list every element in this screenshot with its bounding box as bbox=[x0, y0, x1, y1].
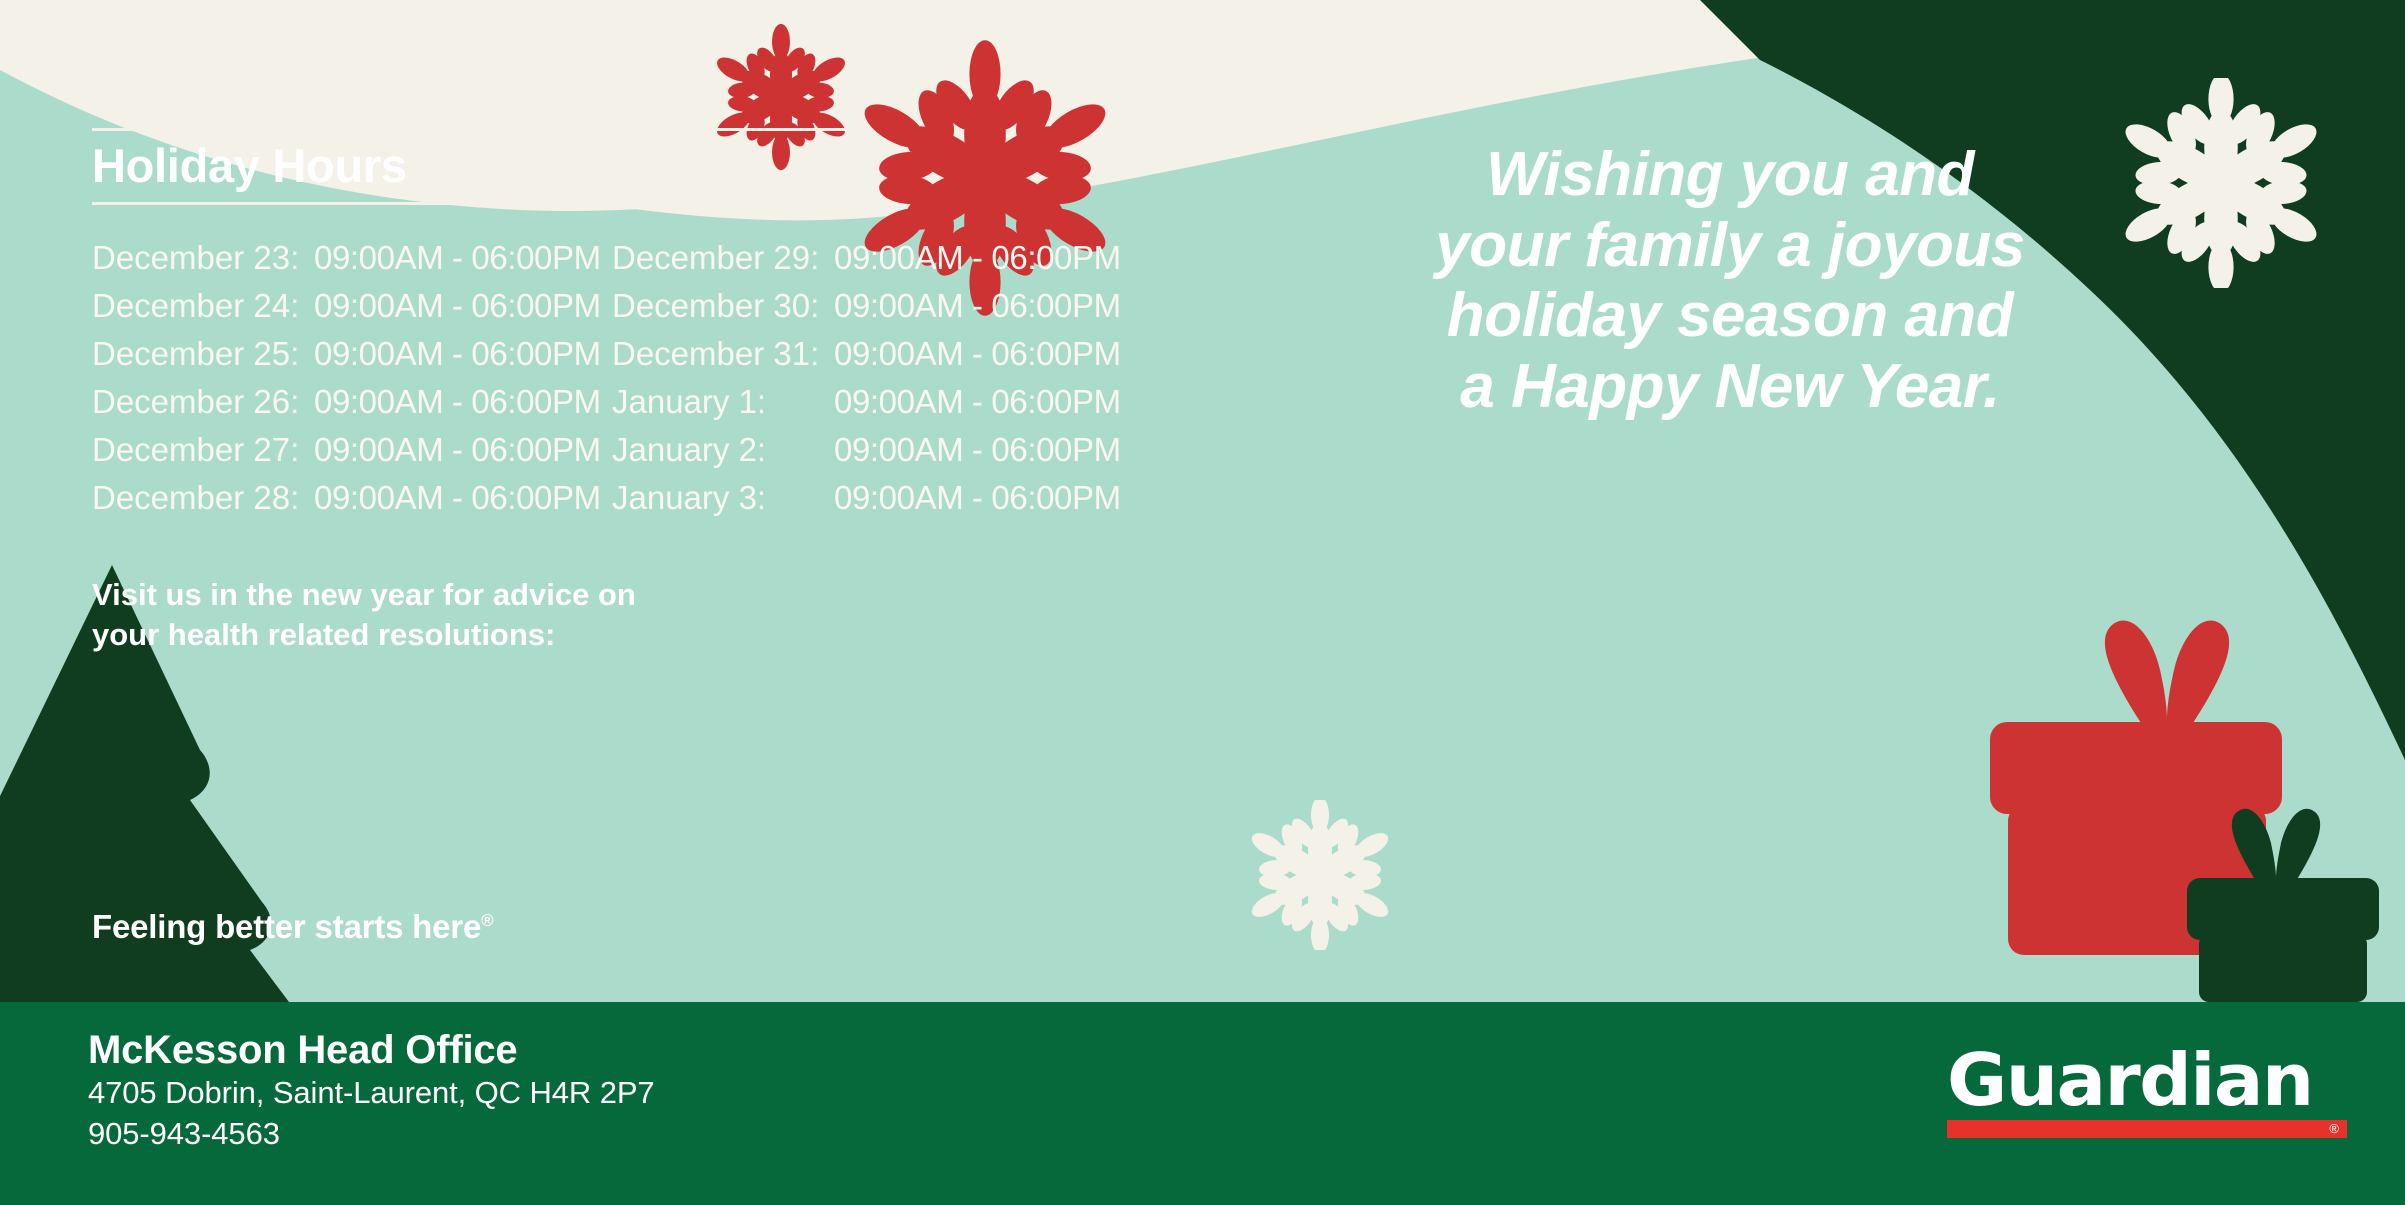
footer-address-block: McKesson Head Office 4705 Dobrin, Saint-… bbox=[88, 1027, 655, 1155]
hours-row: December 26: 09:00AM - 06:00PM bbox=[92, 383, 612, 431]
visit-message: Visit us in the new year for advice on y… bbox=[92, 575, 792, 654]
hours-day-label: December 24: bbox=[92, 287, 314, 325]
gift-box-red-lid bbox=[1990, 722, 2282, 814]
hours-row: December 24: 09:00AM - 06:00PM bbox=[92, 287, 612, 335]
hours-time-value: 09:00AM - 06:00PM bbox=[834, 335, 1121, 373]
office-phone: 905-943-4563 bbox=[88, 1114, 655, 1155]
hours-day-label: December 30: bbox=[612, 287, 834, 325]
guardian-registered-icon: ® bbox=[2329, 1121, 2339, 1137]
greeting-line-3: holiday season and bbox=[1290, 281, 2170, 352]
hours-row: January 3: 09:00AM - 06:00PM bbox=[612, 479, 1132, 527]
visit-message-line-1: Visit us in the new year for advice on bbox=[92, 575, 792, 615]
tagline-text: Feeling better starts here bbox=[92, 908, 481, 945]
hours-day-label: January 3: bbox=[612, 479, 834, 517]
hours-row: December 31: 09:00AM - 06:00PM bbox=[612, 335, 1132, 383]
hours-table: December 23: 09:00AM - 06:00PM December … bbox=[92, 239, 1122, 527]
hours-row: January 2: 09:00AM - 06:00PM bbox=[612, 431, 1132, 479]
visit-message-line-2: your health related resolutions: bbox=[92, 615, 792, 655]
hours-day-label: December 29: bbox=[612, 239, 834, 277]
gift-box-green-body bbox=[2199, 934, 2367, 1002]
hours-time-value: 09:00AM - 06:00PM bbox=[834, 287, 1121, 325]
hours-day-label: January 1: bbox=[612, 383, 834, 421]
hours-time-value: 09:00AM - 06:00PM bbox=[314, 383, 601, 421]
hours-time-value: 09:00AM - 06:00PM bbox=[314, 335, 601, 373]
snowflake-cream-center-icon bbox=[1245, 800, 1395, 950]
hours-time-value: 09:00AM - 06:00PM bbox=[314, 431, 601, 469]
tagline: Feeling better starts here® bbox=[92, 908, 493, 946]
hours-time-value: 09:00AM - 06:00PM bbox=[314, 479, 601, 517]
gift-boxes-group bbox=[1960, 600, 2405, 1002]
hours-row: December 25: 09:00AM - 06:00PM bbox=[92, 335, 612, 383]
greeting-message: Wishing you and your family a joyous hol… bbox=[1290, 140, 2170, 423]
hours-time-value: 09:00AM - 06:00PM bbox=[834, 431, 1121, 469]
hours-time-value: 09:00AM - 06:00PM bbox=[834, 479, 1121, 517]
hours-day-label: December 23: bbox=[92, 239, 314, 277]
hours-day-label: January 2: bbox=[612, 431, 834, 469]
office-name: McKesson Head Office bbox=[88, 1027, 655, 1073]
hours-day-label: December 25: bbox=[92, 335, 314, 373]
tagline-registered-icon: ® bbox=[481, 911, 493, 930]
hours-row: December 28: 09:00AM - 06:00PM bbox=[92, 479, 612, 527]
hours-time-value: 09:00AM - 06:00PM bbox=[314, 239, 601, 277]
hours-row: January 1: 09:00AM - 06:00PM bbox=[612, 383, 1132, 431]
hours-title: Holiday Hours bbox=[92, 131, 1122, 202]
holiday-hours-panel: Holiday Hours December 23: 09:00AM - 06:… bbox=[92, 128, 1122, 527]
greeting-line-2: your family a joyous bbox=[1290, 211, 2170, 282]
hours-rule-bottom bbox=[92, 202, 862, 205]
gift-box-green-lid bbox=[2187, 878, 2379, 940]
footer-bar: McKesson Head Office 4705 Dobrin, Saint-… bbox=[0, 1002, 2405, 1205]
hours-row: December 23: 09:00AM - 06:00PM bbox=[92, 239, 612, 287]
hours-day-label: December 28: bbox=[92, 479, 314, 517]
hours-day-label: December 26: bbox=[92, 383, 314, 421]
hours-day-label: December 27: bbox=[92, 431, 314, 469]
greeting-line-1: Wishing you and bbox=[1290, 140, 2170, 211]
office-street-address: 4705 Dobrin, Saint-Laurent, QC H4R 2P7 bbox=[88, 1073, 655, 1114]
guardian-wordmark: Guardian bbox=[1947, 1046, 2355, 1114]
gift-box-red-bow bbox=[2105, 621, 2229, 723]
greeting-line-4: a Happy New Year. bbox=[1290, 352, 2170, 423]
hours-day-label: December 31: bbox=[612, 335, 834, 373]
hours-time-value: 09:00AM - 06:00PM bbox=[314, 287, 601, 325]
hours-time-value: 09:00AM - 06:00PM bbox=[834, 383, 1121, 421]
guardian-logo: Guardian ® bbox=[1947, 1046, 2347, 1138]
hours-row: December 29: 09:00AM - 06:00PM bbox=[612, 239, 1132, 287]
hours-row: December 27: 09:00AM - 06:00PM bbox=[92, 431, 612, 479]
hours-time-value: 09:00AM - 06:00PM bbox=[834, 239, 1121, 277]
guardian-logo-bar: ® bbox=[1947, 1120, 2347, 1138]
hours-row: December 30: 09:00AM - 06:00PM bbox=[612, 287, 1132, 335]
holiday-banner: Holiday Hours December 23: 09:00AM - 06:… bbox=[0, 0, 2405, 1205]
